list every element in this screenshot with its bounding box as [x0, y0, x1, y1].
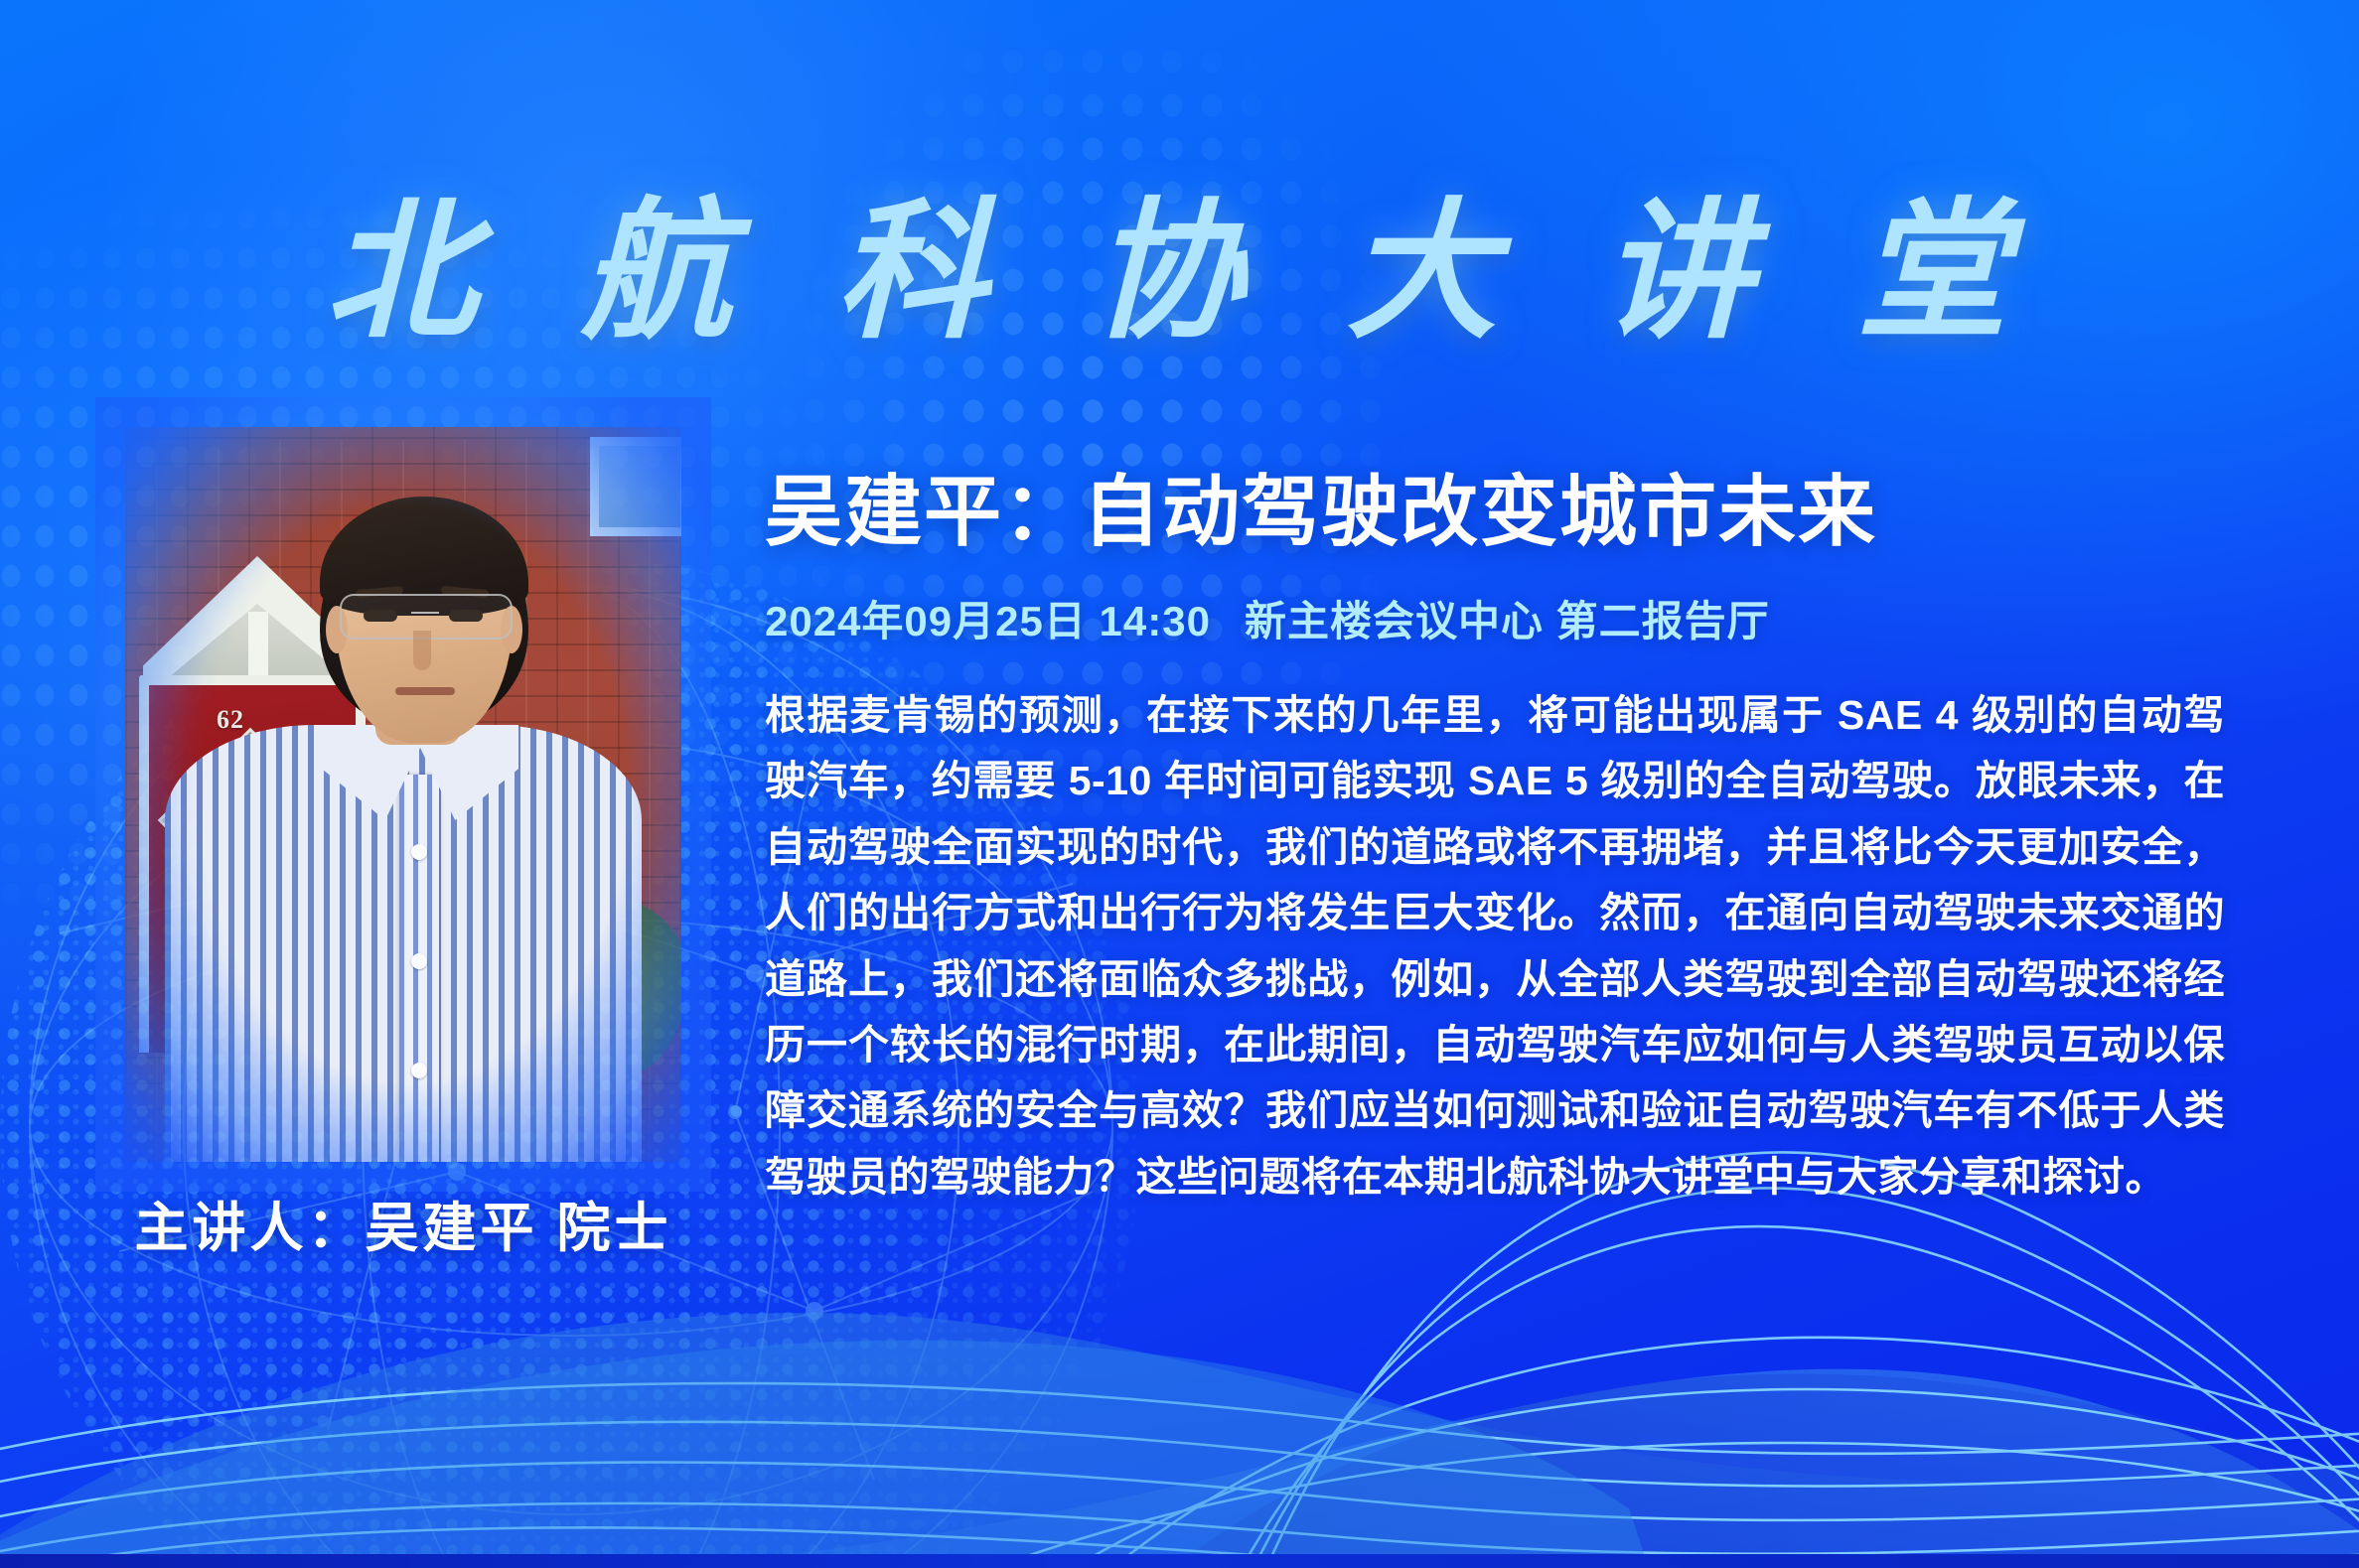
speaker-photo: 62 — [125, 427, 681, 1162]
shirt-button — [411, 953, 427, 969]
lecture-title: 吴建平：自动驾驶改变城市未来 — [765, 473, 2225, 550]
house-window — [590, 437, 681, 536]
wave-arc-left — [0, 1341, 1649, 1568]
shirt-button — [411, 844, 427, 860]
glasses-bridge — [411, 612, 439, 614]
event-datetime: 2024年09月25日 14:30 — [765, 598, 1211, 644]
door-number-label: 62 — [217, 705, 244, 735]
shirt-button — [411, 1063, 427, 1078]
bottom-accent-bar — [0, 1554, 2359, 1568]
speaker-photo-image: 62 — [125, 427, 681, 1162]
speaker-caption: 主讲人：吴建平 院士 — [125, 1184, 681, 1262]
lecture-poster: 北 航 科 协 大 讲 堂 62 — [0, 0, 2359, 1568]
lecture-abstract: 根据麦肯锡的预测，在接下来的几年里，将可能出现属于 SAE 4 级别的自动驾驶汽… — [765, 682, 2225, 1210]
nose — [413, 631, 431, 670]
mouth — [395, 687, 455, 695]
content-column: 吴建平：自动驾驶改变城市未来 2024年09月25日 14:30新主楼会议中心 … — [765, 473, 2225, 1210]
event-venue: 新主楼会议中心 第二报告厅 — [1245, 598, 1770, 644]
porch-post — [248, 612, 268, 681]
page-title: 北 航 科 协 大 讲 堂 — [0, 149, 2359, 367]
event-meta: 2024年09月25日 14:30新主楼会议中心 第二报告厅 — [765, 588, 2225, 648]
